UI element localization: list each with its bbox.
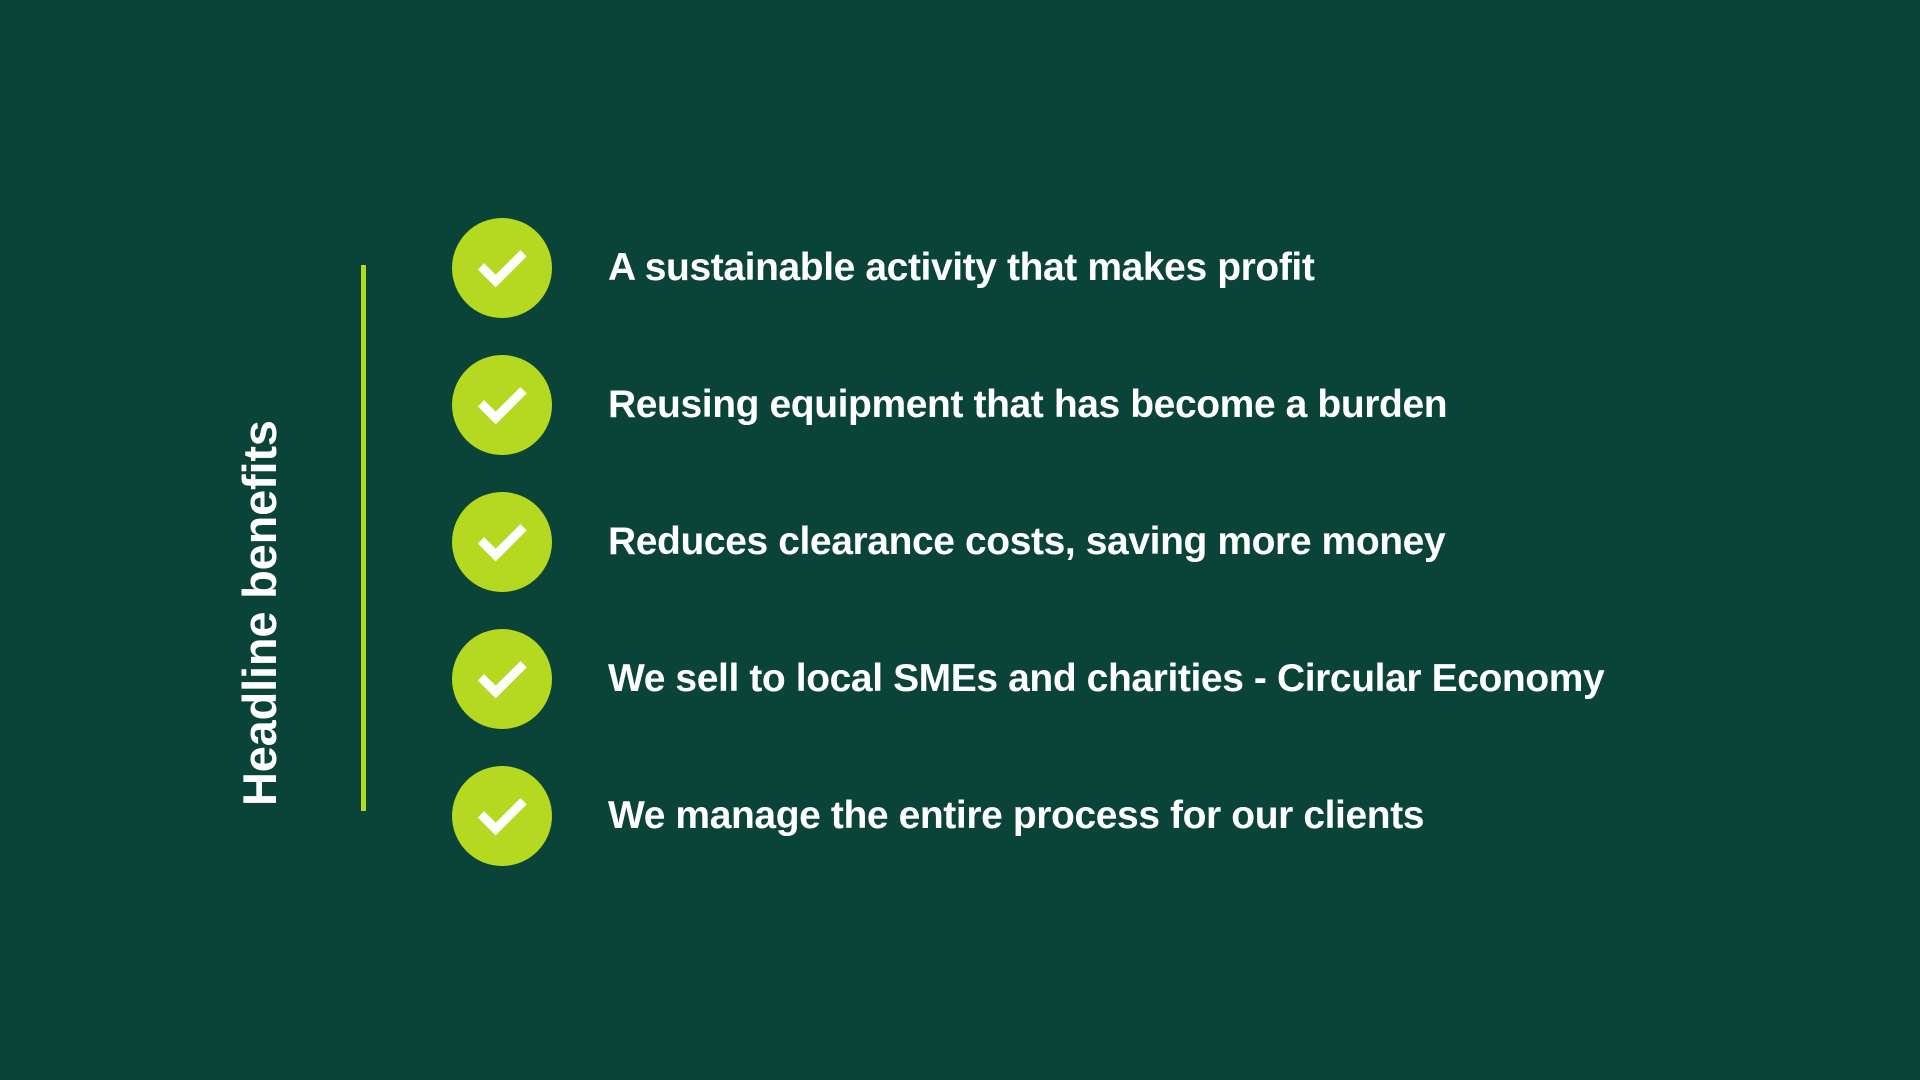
slide-canvas: Headline benefits A sustainable activity… (0, 0, 1920, 1080)
check-circle-icon (452, 218, 552, 318)
check-circle-icon (452, 629, 552, 729)
page-title: Headline benefits (225, 294, 295, 806)
list-item-label: We sell to local SMEs and charities - Ci… (608, 659, 1604, 700)
list-item-label: Reusing equipment that has become a burd… (608, 385, 1447, 426)
list-item: Reduces clearance costs, saving more mon… (452, 492, 1852, 592)
list-item: We manage the entire process for our cli… (452, 766, 1852, 866)
list-item-label: Reduces clearance costs, saving more mon… (608, 522, 1445, 563)
check-circle-icon (452, 766, 552, 866)
check-circle-icon (452, 492, 552, 592)
list-item: A sustainable activity that makes profit (452, 218, 1852, 318)
list-item: Reusing equipment that has become a burd… (452, 355, 1852, 455)
list-item: We sell to local SMEs and charities - Ci… (452, 629, 1852, 729)
vertical-accent-divider (361, 265, 366, 811)
list-item-label: A sustainable activity that makes profit (608, 248, 1314, 289)
check-circle-icon (452, 355, 552, 455)
list-item-label: We manage the entire process for our cli… (608, 796, 1424, 837)
benefits-list: A sustainable activity that makes profit… (452, 218, 1852, 866)
